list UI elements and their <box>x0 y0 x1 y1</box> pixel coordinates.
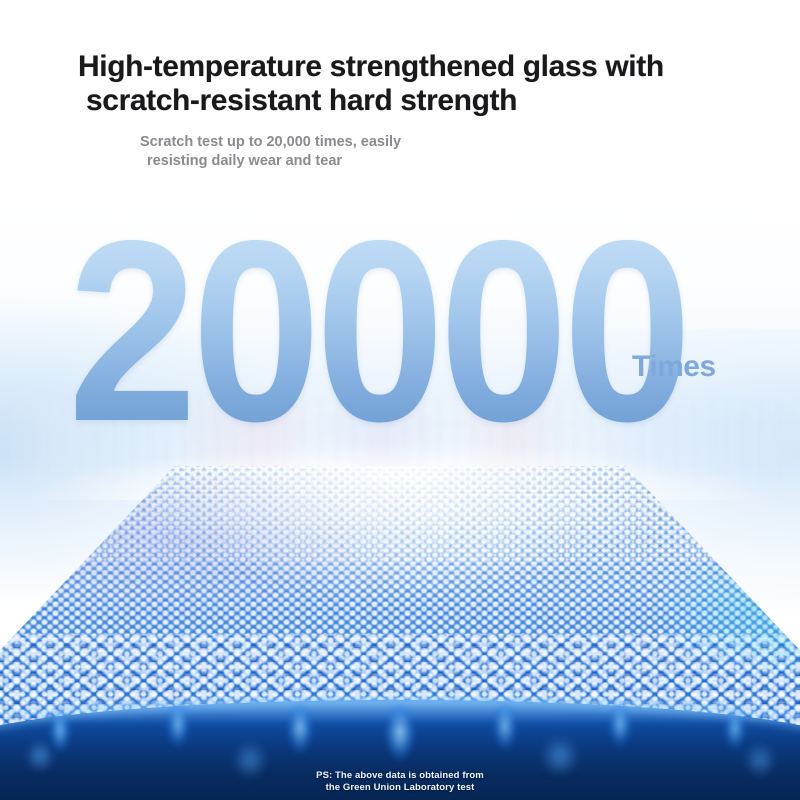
headline-line-1: High-temperature strengthened glass with <box>78 50 664 83</box>
footnote-line-1: PS: The above data is obtained from <box>316 770 484 781</box>
page-subtitle: Scratch test up to 20,000 times, easily … <box>140 133 560 171</box>
hero-stat-unit-label: Times <box>632 350 716 384</box>
subheadline-line-1: Scratch test up to 20,000 times, easily <box>140 134 401 150</box>
page-title: High-temperature strengthened glass with… <box>78 50 738 118</box>
promo-poster: High-temperature strengthened glass with… <box>0 0 800 800</box>
hero-stat: 20000 <box>0 222 800 442</box>
footnote-line-2: the Green Union Laboratory test <box>0 782 800 794</box>
subheadline-line-2: resisting daily wear and tear <box>140 152 560 171</box>
specular-highlight <box>0 456 800 646</box>
disclaimer-note: PS: The above data is obtained from the … <box>0 770 800 793</box>
hero-stat-value: 20000 <box>68 222 687 440</box>
headline-line-2: scratch-resistant hard strength <box>78 84 738 118</box>
